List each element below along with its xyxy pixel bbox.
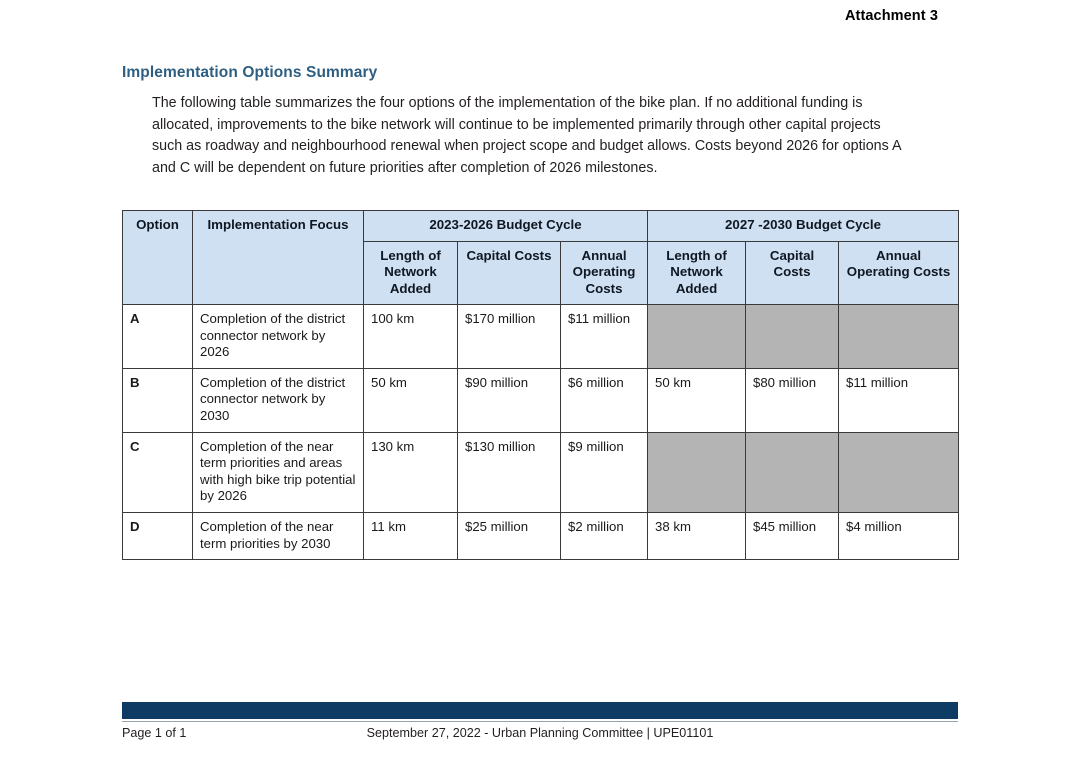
table-row: CCompletion of the near term priorities … [123, 432, 959, 512]
cell-capital-costs-1: $90 million [458, 368, 561, 432]
col-header-implementation-focus: Implementation Focus [193, 211, 364, 305]
cell-option: A [123, 305, 193, 369]
footer-divider [122, 721, 958, 722]
cell-capital-costs-1: $170 million [458, 305, 561, 369]
cell-annual-operating-costs-1: $6 million [561, 368, 648, 432]
table-row: ACompletion of the district connector ne… [123, 305, 959, 369]
col-header-budget-cycle-2027-2030: 2027 -2030 Budget Cycle [648, 211, 959, 242]
footer-accent-bar [122, 702, 958, 719]
implementation-options-table: Option Implementation Focus 2023-2026 Bu… [122, 210, 959, 560]
cell-annual-operating-costs-1: $11 million [561, 305, 648, 369]
page-title: Implementation Options Summary [122, 64, 377, 82]
cell-length-network-added-2 [648, 305, 746, 369]
cell-length-network-added-1: 130 km [364, 432, 458, 512]
cell-annual-operating-costs-2: $11 million [839, 368, 959, 432]
cell-annual-operating-costs-2 [839, 305, 959, 369]
col-header-budget-cycle-2023-2026: 2023-2026 Budget Cycle [364, 211, 648, 242]
cell-length-network-added-2: 38 km [648, 512, 746, 559]
cell-capital-costs-2 [746, 432, 839, 512]
cell-implementation-focus: Completion of the district connector net… [193, 305, 364, 369]
table-body: ACompletion of the district connector ne… [123, 305, 959, 560]
intro-paragraph: The following table summarizes the four … [152, 93, 904, 179]
cell-length-network-added-1: 11 km [364, 512, 458, 559]
col-header-annual-operating-costs-2: Annual Operating Costs [839, 241, 959, 305]
document-page: Attachment 3 Implementation Options Summ… [0, 0, 1080, 769]
cell-length-network-added-1: 50 km [364, 368, 458, 432]
col-header-length-network-added-2: Length of Network Added [648, 241, 746, 305]
cell-implementation-focus: Completion of the near term priorities b… [193, 512, 364, 559]
table-header: Option Implementation Focus 2023-2026 Bu… [123, 211, 959, 305]
col-header-capital-costs-1: Capital Costs [458, 241, 561, 305]
cell-annual-operating-costs-1: $9 million [561, 432, 648, 512]
cell-capital-costs-2: $45 million [746, 512, 839, 559]
cell-length-network-added-2: 50 km [648, 368, 746, 432]
table-row: DCompletion of the near term priorities … [123, 512, 959, 559]
cell-length-network-added-2 [648, 432, 746, 512]
cell-option: B [123, 368, 193, 432]
cell-implementation-focus: Completion of the near term priorities a… [193, 432, 364, 512]
cell-capital-costs-1: $25 million [458, 512, 561, 559]
table-header-row-top: Option Implementation Focus 2023-2026 Bu… [123, 211, 959, 242]
cell-capital-costs-1: $130 million [458, 432, 561, 512]
cell-annual-operating-costs-2 [839, 432, 959, 512]
col-header-length-network-added-1: Length of Network Added [364, 241, 458, 305]
implementation-options-table-container: Option Implementation Focus 2023-2026 Bu… [122, 210, 958, 560]
col-header-capital-costs-2: Capital Costs [746, 241, 839, 305]
attachment-label: Attachment 3 [0, 8, 938, 24]
table-row: BCompletion of the district connector ne… [123, 368, 959, 432]
cell-implementation-focus: Completion of the district connector net… [193, 368, 364, 432]
col-header-option: Option [123, 211, 193, 305]
cell-capital-costs-2: $80 million [746, 368, 839, 432]
cell-capital-costs-2 [746, 305, 839, 369]
cell-annual-operating-costs-1: $2 million [561, 512, 648, 559]
cell-annual-operating-costs-2: $4 million [839, 512, 959, 559]
cell-option: D [123, 512, 193, 559]
cell-option: C [123, 432, 193, 512]
cell-length-network-added-1: 100 km [364, 305, 458, 369]
col-header-annual-operating-costs-1: Annual Operating Costs [561, 241, 648, 305]
footer-meta: September 27, 2022 - Urban Planning Comm… [122, 726, 958, 740]
